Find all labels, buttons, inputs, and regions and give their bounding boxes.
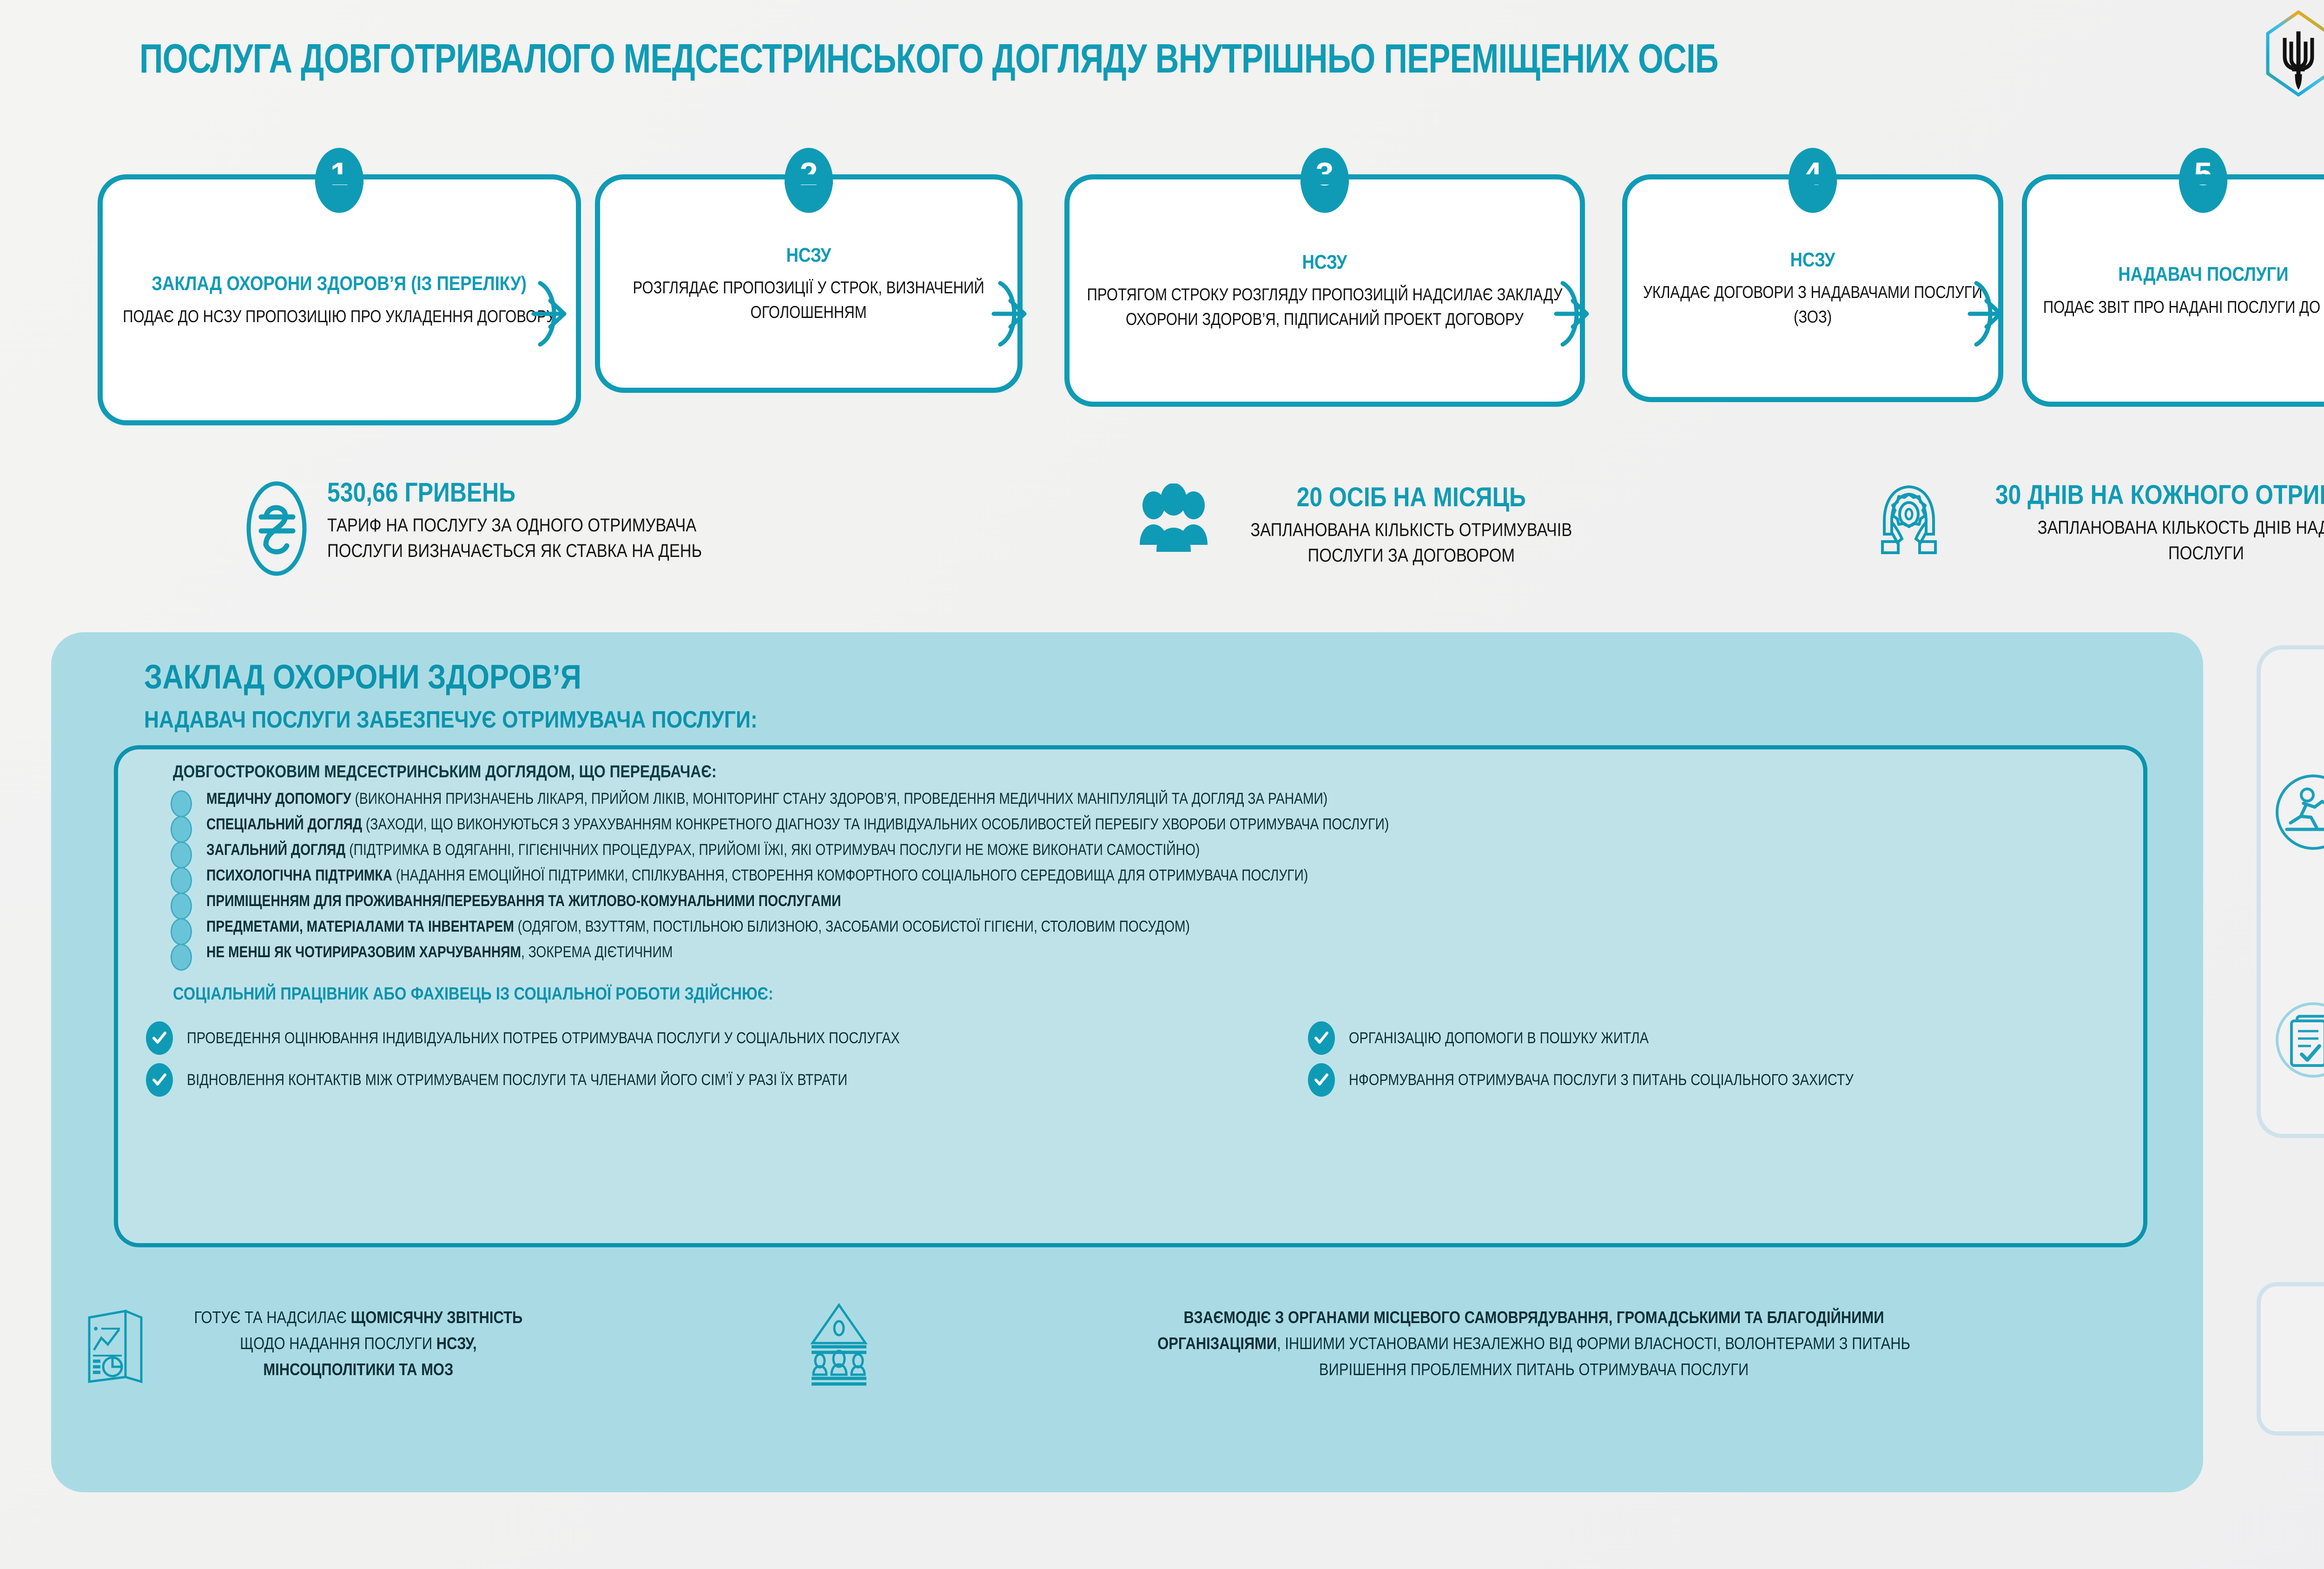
footer-right-line2-rest: , ІНШИМИ УСТАНОВАМИ НЕЗАЛЕЖНО ВІД ФОРМИ … [1277,1334,1910,1353]
footer-right-line1: ВЗАЄМОДІЄ З ОРГАНАМИ МІСЦЕВОГО САМОВРЯДУ… [982,1304,2086,1331]
list-item: СПЕЦІАЛЬНИЙ ДОГЛЯД (ЗАХОДИ, ЩО ВИКОНУЮТЬ… [183,812,2208,838]
step-body-2: РОЗГЛЯДАЄ ПРОПОЗИЦІЇ У СТРОК, ВИЗНАЧЕНИЙ… [611,276,1007,324]
step-body-5: ПОДАЄ ЗВІТ ПРО НАДАНІ ПОСЛУГИ ДО НСЗУ [2035,295,2324,320]
footer-right-line3: ВИРІШЕННЯ ПРОБЛЕМНИХ ПИТАНЬ ОТРИМУВАЧА П… [982,1357,2086,1383]
panel-footer-cooperation-text: ВЗАЄМОДІЄ З ОРГАНАМИ МІСЦЕВОГО САМОВРЯДУ… [982,1304,2086,1382]
running-person-evacuation-icon [2274,773,2324,852]
step-body-1: ПОДАЄ ДО НСЗУ ПРОПОЗИЦІЮ ПРО УКЛАДЕННЯ Д… [113,305,566,329]
bullet-text-6: ПРЕДМЕТАМИ, МАТЕРІАЛАМИ ТА ІНВЕНТАРЕМ (О… [206,918,1190,936]
footer-right-line2-bold: ОРГАНІЗАЦІЯМИ [1157,1334,1277,1353]
receiver-card: ОТРИМУВАЧ ЕВАКУЙОВАНІ ТА ПЕРЕБУВАЮТЬ У Т… [2257,645,2324,1138]
step-badge-cover-2 [785,174,833,185]
stat-persons-desc-1: ЗАПЛАНОВАНА КІЛЬКІСТЬ ОТРИМУВАЧІВ [1250,517,1572,543]
step-badge-cover-3 [1301,174,1349,185]
medical-document-check-icon [2274,1000,2324,1079]
step-body-4: УКЛАДАЄ ДОГОВОРИ З НАДАВАЧАМИ ПОСЛУГИ (З… [1635,280,1990,329]
panel-title: ЗАКЛАД ОХОРОНИ ЗДОРОВ’Я [144,658,581,696]
step-title-4: НСЗУ [1790,247,1835,273]
footer-right-line1-bold: ВЗАЄМОДІЄ З ОРГАНАМИ МІСЦЕВОГО САМОВРЯДУ… [1184,1308,1884,1327]
report-document-chart-icon [79,1302,149,1385]
bullet-text-5: ПРИМІЩЕННЯМ ДЛЯ ПРОЖИВАННЯ/ПЕРЕБУВАННЯ Т… [206,892,841,910]
step-title-5: НАДАВАЧ ПОСЛУГИ [2118,262,2288,288]
list-item: НЕ МЕНШ ЯК ЧОТИРИРАЗОВИМ ХАРЧУВАННЯМ, ЗО… [183,940,2208,966]
group-of-people-icon [1139,483,1208,553]
receiver-item-doctor-report: ВИСНОВОК ЛІКАРЯ ПРО ПОТРЕБУ В ПОСЛУЗІ [2274,1000,2324,1079]
panel-footer-reporting: ГОТУЄ ТА НАДСИЛАЄ ЩОМІСЯЧНУ ЗВІТНІСТЬ ЩО… [79,1302,739,1385]
check-label-right-1: ОРГАНІЗАЦІЮ ДОПОМОГИ В ПОШУКУ ЖИТЛА [1349,1029,1649,1047]
bullet-rest-1: (ВИКОНАННЯ ПРИЗНАЧЕНЬ ЛІКАРЯ, ПРИЙОМ ЛІК… [351,790,1328,808]
footer-left-line3-bold: МІНСОЦПОЛІТИКИ ТА МОЗ [263,1360,453,1379]
step-badge-cover-4 [1789,174,1837,185]
step-card-1[interactable]: 1 ЗАКЛАД ОХОРОНИ ЗДОРОВ’Я (ІЗ ПЕРЕЛІКУ) … [98,174,581,425]
step-card-5[interactable]: 5 НАДАВАЧ ПОСЛУГИ ПОДАЄ ЗВІТ ПРО НАДАНІ … [2022,174,2324,407]
footer-left-line1-bold: ЩОМІСЯЧНУ ЗВІТНІСТЬ [351,1308,523,1327]
bullet-text-1: МЕДИЧНУ ДОПОМОГУ (ВИКОНАННЯ ПРИЗНАЧЕНЬ Л… [206,790,1327,808]
step-title-3: НСЗУ [1302,250,1347,276]
bullet-bold-5: ПРИМІЩЕННЯМ ДЛЯ ПРОЖИВАННЯ/ПЕРЕБУВАННЯ Т… [206,892,841,910]
footer-left-line1-pre: ГОТУЄ ТА НАДСИЛАЄ [194,1308,351,1327]
health-facility-panel: ЗАКЛАД ОХОРОНИ ЗДОРОВ’Я НАДАВАЧ ПОСЛУГИ … [51,632,2203,1492]
community-organization-icon [804,1299,874,1388]
stat-days-text: 30 ДНІВ НА КОЖНОГО ОТРИМУВАЧА ЗАПЛАНОВАН… [1961,481,2324,566]
ministry-branding: Міністерство соціальної політики, сім’ї … [2264,9,2324,98]
bullet-text-4: ПСИХОЛОГІЧНА ПІДТРИМКА (НАДАННЯ ЕМОЦІЙНО… [206,867,1308,885]
panel-subtitle: НАДАВАЧ ПОСЛУГИ ЗАБЕЗПЕЧУЄ ОТРИМУВАЧА ПО… [144,706,758,733]
footer-left-line1: ГОТУЄ ТА НАДСИЛАЄ ЩОМІСЯЧНУ ЗВІТНІСТЬ [194,1304,523,1331]
step-card-4[interactable]: 4 НСЗУ УКЛАДАЄ ДОГОВОРИ З НАДАВАЧАМИ ПОС… [1622,174,2003,402]
bullet-bold-7: НЕ МЕНШ ЯК ЧОТИРИРАЗОВИМ ХАРЧУВАННЯМ [206,943,521,961]
step-badge-cover-1 [315,174,363,185]
bullet-bold-2: СПЕЦІАЛЬНИЙ ДОГЛЯД [206,815,362,833]
list-item: ЗАГАЛЬНИЙ ДОГЛЯД (ПІДТРИМКА В ОДЯГАННІ, … [183,838,2208,863]
list-item: ПРЕДМЕТАМИ, МАТЕРІАЛАМИ ТА ІНВЕНТАРЕМ (О… [183,914,2208,940]
check-item-left-1[interactable]: ПРОВЕДЕННЯ ОЦІНЮВАННЯ ІНДИВІДУАЛЬНИХ ПОТ… [146,1021,1025,1055]
stat-persons-desc-2: ПОСЛУГИ ЗА ДОГОВОРОМ [1250,543,1572,569]
check-item-left-2[interactable]: ВІДНОВЛЕННЯ КОНТАКТІВ МІЖ ОТРИМУВАЧЕМ ПО… [146,1063,964,1097]
stat-days-desc-1: ЗАПЛАНОВАНА КІЛЬКОСТЬ ДНІВ НАДАННЯ [1995,515,2324,541]
hands-holding-gear-icon [1873,481,1945,556]
check-icon [1308,1063,1335,1097]
bullet-dot-icon [171,944,192,971]
stat-tariff-desc-2: ПОСЛУГИ ВИЗНАЧАЄТЬСЯ ЯК СТАВКА НА ДЕНЬ [327,538,702,564]
footer-left-line2-pre: ЩОДО НАДАННЯ ПОСЛУГИ [240,1334,436,1353]
stat-tariff: 530,66 ГРИВЕНЬ ТАРИФ НА ПОСЛУГУ ЗА ОДНОГ… [242,479,763,579]
list-item: ПРИМІЩЕННЯМ ДЛЯ ПРОЖИВАННЯ/ПЕРЕБУВАННЯ Т… [183,889,2208,914]
bullet-bold-6: ПРЕДМЕТАМИ, МАТЕРІАЛАМИ ТА ІНВЕНТАРЕМ [206,918,514,935]
bullet-rest-7: , ЗОКРЕМА ДІЄТИЧНИМ [521,943,673,961]
control-title: ЗДІЙСНЕННЯ КОНТРОЛЮ ЗА НАДАННЯМ ПОСЛУГИ: [2299,1307,2324,1360]
hryvnia-symbol-icon [242,479,311,579]
bullet-rest-2: (ЗАХОДИ, ЩО ВИКОНУЮТЬСЯ З УРАХУВАННЯМ КО… [362,815,1389,833]
infographic-canvas: ПОСЛУГА ДОВГОТРИВАЛОГО МЕДСЕСТРИНСЬКОГО … [0,0,2324,1569]
step-title-1: ЗАКЛАД ОХОРОНИ ЗДОРОВ’Я (ІЗ ПЕРЕЛІКУ) [110,271,568,297]
bullet-rest-6: (ОДЯГОМ, ВЗУТТЯМ, ПОСТІЛЬНОЮ БІЛИЗНОЮ, З… [514,918,1190,935]
bullet-bold-4: ПСИХОЛОГІЧНА ПІДТРИМКА [206,867,392,884]
bullet-text-2: СПЕЦІАЛЬНИЙ ДОГЛЯД (ЗАХОДИ, ЩО ВИКОНУЮТЬ… [206,815,1389,834]
receiver-title: ОТРИМУВАЧ [2286,676,2324,717]
check-icon [1308,1021,1335,1055]
stat-tariff-text: 530,66 ГРИВЕНЬ ТАРИФ НА ПОСЛУГУ ЗА ОДНОГ… [327,479,763,564]
stat-tariff-value: 530,66 ГРИВЕНЬ [327,479,702,507]
services-box: ДОВГОСТРОКОВИМ МЕДСЕСТРИНСЬКИМ ДОГЛЯДОМ,… [114,745,2147,1247]
check-item-right-1[interactable]: ОРГАНІЗАЦІЮ ДОПОМОГИ В ПОШУКУ ЖИТЛА [1308,1021,1702,1055]
bullet-rest-3: (ПІДТРИМКА В ОДЯГАННІ, ГІГІЄНІЧНИХ ПРОЦЕ… [345,841,1200,859]
header: ПОСЛУГА ДОВГОТРИВАЛОГО МЕДСЕСТРИНСЬКОГО … [0,0,2324,139]
control-card: ЗДІЙСНЕННЯ КОНТРОЛЮ ЗА НАДАННЯМ ПОСЛУГИ:… [2257,1282,2324,1436]
check-label-left-1: ПРОВЕДЕННЯ ОЦІНЮВАННЯ ІНДИВІДУАЛЬНИХ ПОТ… [187,1029,900,1047]
bullet-bold-1: МЕДИЧНУ ДОПОМОГУ [206,790,351,808]
step-card-3[interactable]: 3 НСЗУ ПРОТЯГОМ СТРОКУ РОЗГЛЯДУ ПРОПОЗИЦ… [1064,174,1585,407]
check-item-right-2[interactable]: НФОРМУВАННЯ ОТРИМУВАЧА ПОСЛУГИ З ПИТАНЬ … [1308,1063,1942,1097]
flow-arrow-3 [1552,277,1599,351]
bullet-bold-3: ЗАГАЛЬНИЙ ДОГЛЯД [206,841,345,859]
stat-days-desc-2: ПОСЛУГИ [1995,541,2324,566]
panel-footer-reporting-text: ГОТУЄ ТА НАДСИЛАЄ ЩОМІСЯЧНУ ЗВІТНІСТЬ ЩО… [194,1304,523,1382]
list-item: ПСИХОЛОГІЧНА ПІДТРИМКА (НАДАННЯ ЕМОЦІЙНО… [183,863,2208,889]
flow-arrow-4 [1966,277,2013,351]
ukraine-trident-hexagon-icon [2264,9,2324,98]
stat-persons-text: 20 ОСІБ НА МІСЯЦЬ ЗАПЛАНОВАНА КІЛЬКІСТЬ … [1224,483,1598,569]
stat-days-value: 30 ДНІВ НА КОЖНОГО ОТРИМУВАЧА [1995,481,2324,510]
plus-separator: + [2261,951,2324,991]
step-title-2: НСЗУ [786,243,832,269]
footer-right-line2: ОРГАНІЗАЦІЯМИ, ІНШИМИ УСТАНОВАМИ НЕЗАЛЕЖ… [982,1331,2086,1357]
social-worker-heading: СОЦІАЛЬНИЙ ПРАЦІВНИК АБО ФАХІВЕЦЬ ІЗ СОЦ… [173,984,773,1004]
bullet-text-7: НЕ МЕНШ ЯК ЧОТИРИРАЗОВИМ ХАРЧУВАННЯМ, ЗО… [206,943,673,961]
stats-row: 530,66 ГРИВЕНЬ ТАРИФ НА ПОСЛУГУ ЗА ОДНОГ… [0,470,2324,609]
services-heading: ДОВГОСТРОКОВИМ МЕДСЕСТРИНСЬКИМ ДОГЛЯДОМ,… [173,762,717,781]
flow-arrow-2 [990,277,1037,351]
check-icon [146,1063,173,1097]
step-body-3: ПРОТЯГОМ СТРОКУ РОЗГЛЯДУ ПРОПОЗИЦІЙ НАДС… [1076,283,1574,331]
flow-arrow-1 [530,277,576,351]
list-item: МЕДИЧНУ ДОПОМОГУ (ВИКОНАННЯ ПРИЗНАЧЕНЬ Л… [183,787,2208,812]
process-flow: 1 ЗАКЛАД ОХОРОНИ ЗДОРОВ’Я (ІЗ ПЕРЕЛІКУ) … [0,153,2324,442]
check-label-left-2: ВІДНОВЛЕННЯ КОНТАКТІВ МІЖ ОТРИМУВАЧЕМ ПО… [187,1071,847,1089]
stat-persons: 20 ОСІБ НА МІСЯЦЬ ЗАПЛАНОВАНА КІЛЬКІСТЬ … [1139,483,1598,569]
page-title: ПОСЛУГА ДОВГОТРИВАЛОГО МЕДСЕСТРИНСЬКОГО … [139,35,1794,82]
services-bullet-list: МЕДИЧНУ ДОПОМОГУ (ВИКОНАННЯ ПРИЗНАЧЕНЬ Л… [183,787,2208,966]
stat-days: 30 ДНІВ НА КОЖНОГО ОТРИМУВАЧА ЗАПЛАНОВАН… [1873,481,2324,566]
footer-left-line2: ЩОДО НАДАННЯ ПОСЛУГИ НСЗУ, [194,1331,523,1357]
check-icon [146,1021,173,1055]
footer-left-line2-bold: НСЗУ, [436,1334,477,1353]
stat-tariff-desc-1: ТАРИФ НА ПОСЛУГУ ЗА ОДНОГО ОТРИМУВАЧА [327,513,702,538]
footer-left-line3: МІНСОЦПОЛІТИКИ ТА МОЗ [194,1357,523,1383]
bullet-text-3: ЗАГАЛЬНИЙ ДОГЛЯД (ПІДТРИМКА В ОДЯГАННІ, … [206,841,1200,859]
step-badge-cover-5 [2179,174,2227,185]
panel-footer-cooperation: ВЗАЄМОДІЄ З ОРГАНАМИ МІСЦЕВОГО САМОВРЯДУ… [804,1299,2175,1388]
stat-persons-value: 20 ОСІБ НА МІСЯЦЬ [1250,483,1572,512]
check-label-right-2: НФОРМУВАННЯ ОТРИМУВАЧА ПОСЛУГИ З ПИТАНЬ … [1349,1071,1854,1089]
step-card-2[interactable]: 2 НСЗУ РОЗГЛЯДАЄ ПРОПОЗИЦІЇ У СТРОК, ВИЗ… [595,174,1023,393]
bullet-rest-4: (НАДАННЯ ЕМОЦІЙНОЇ ПІДТРИМКИ, СПІЛКУВАНН… [392,867,1308,884]
receiver-item-evacuated: ЕВАКУЙОВАНІ ТА ПЕРЕБУВАЮТЬ У ТРАНЗИТНИХ … [2274,773,2324,852]
